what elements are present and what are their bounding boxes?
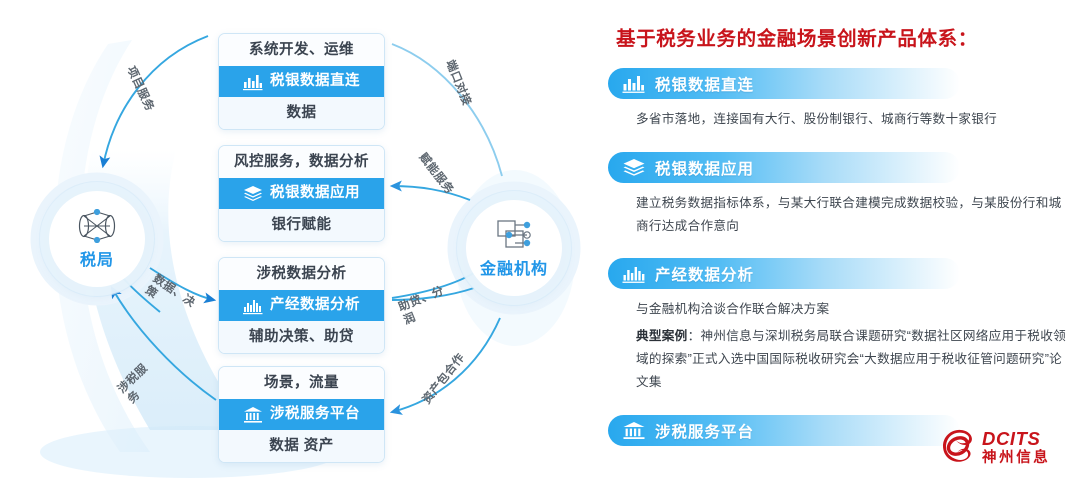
slide-root: 税局 金融机构 系统开发、运维 [0,0,1080,479]
card-tax-service-platform[interactable]: 场景，流量 涉税服务平台 数据 资产 [218,366,385,463]
case-text: ：神州信息与深圳税务局联合课题研究“数据社区网络应用于税收领域的探索”正式入选中… [636,329,1066,389]
linked-squares-icon [492,218,536,252]
case-label: 典型案例 [636,329,688,343]
svg-text:神州信息: 神州信息 [982,448,1050,466]
card-middle-label: 涉税服务平台 [270,399,360,430]
bar-chart-icon [243,297,263,315]
section-tax-bank-data-direct: 税银数据直连 多省市落地，连接国有大行、股份制银行、城商行等数十家银行 [608,68,1070,131]
card-tax-bank-data-direct[interactable]: 系统开发、运维 税银数据直连 数据 [218,33,385,130]
node-financial-institution-label: 金融机构 [480,255,548,279]
card-tax-bank-data-application[interactable]: 风控服务，数据分析 税银数据应用 银行赋能 [218,145,385,242]
bar-chart-icon [622,264,646,284]
card-highlight-row[interactable]: 税银数据直连 [219,66,384,97]
bar-chart-icon [622,74,646,94]
section-header-pill[interactable]: 涉税服务平台 [608,415,960,446]
section-heading: 涉税服务平台 [655,420,754,442]
card-bottom-label: 银行赋能 [219,209,384,241]
network-nodes-icon [75,209,119,243]
bank-icon [243,406,263,424]
dcits-logo: DCITS 神州信息 [938,425,1070,467]
svg-text:DCITS: DCITS [982,428,1041,449]
card-industrial-economy-analysis[interactable]: 涉税数据分析 产经数据分析 辅助决策、助贷 [218,257,385,354]
card-middle-label: 税银数据应用 [270,178,360,209]
tax-finance-loop-diagram: 税局 金融机构 系统开发、运维 [0,0,600,479]
card-top-label: 涉税数据分析 [219,258,384,290]
section-body: 多省市落地，连接国有大行、股份制银行、城商行等数十家银行 [608,108,1070,131]
layers-icon [243,185,263,203]
product-system-panel: 基于税务业务的金融场景创新产品体系： 税银数据直连 多省市落地，连接国有大行、股… [608,0,1080,479]
section-body: 建立税务数据指标体系，与某大行联合建模完成数据校验，与某股份行和城商行达成合作意… [608,192,1070,238]
section-tax-bank-data-application: 税银数据应用 建立税务数据指标体系，与某大行联合建模完成数据校验，与某股份行和城… [608,152,1070,238]
section-industrial-economy-analysis: 产经数据分析 与金融机构洽谈合作联合解决方案 典型案例：神州信息与深圳税务局联合… [608,258,1070,394]
card-middle-label: 税银数据直连 [270,66,360,97]
layers-icon [622,158,646,178]
card-bottom-label: 数据 [219,97,384,129]
section-heading: 产经数据分析 [655,263,754,285]
card-top-label: 场景，流量 [219,367,384,399]
section-body: 与金融机构洽谈合作联合解决方案 [608,298,1070,321]
section-heading: 税银数据直连 [655,73,754,95]
card-bottom-label: 辅助决策、助贷 [219,321,384,353]
card-highlight-row[interactable]: 产经数据分析 [219,290,384,321]
section-heading: 税银数据应用 [655,157,754,179]
card-top-label: 风控服务，数据分析 [219,146,384,178]
card-middle-label: 产经数据分析 [270,290,360,321]
section-header-pill[interactable]: 税银数据直连 [608,68,960,99]
card-bottom-label: 数据 资产 [219,430,384,462]
card-highlight-row[interactable]: 涉税服务平台 [219,399,384,430]
node-tax-bureau-label: 税局 [80,246,114,270]
bank-icon [622,421,646,441]
section-case-study: 典型案例：神州信息与深圳税务局联合课题研究“数据社区网络应用于税收领域的探索”正… [608,325,1070,394]
node-financial-institution[interactable]: 金融机构 [466,200,562,296]
node-tax-bureau[interactable]: 税局 [49,191,145,287]
panel-title: 基于税务业务的金融场景创新产品体系： [616,22,978,51]
card-top-label: 系统开发、运维 [219,34,384,66]
section-header-pill[interactable]: 产经数据分析 [608,258,960,289]
bar-chart-icon [243,73,263,91]
section-header-pill[interactable]: 税银数据应用 [608,152,960,183]
card-highlight-row[interactable]: 税银数据应用 [219,178,384,209]
